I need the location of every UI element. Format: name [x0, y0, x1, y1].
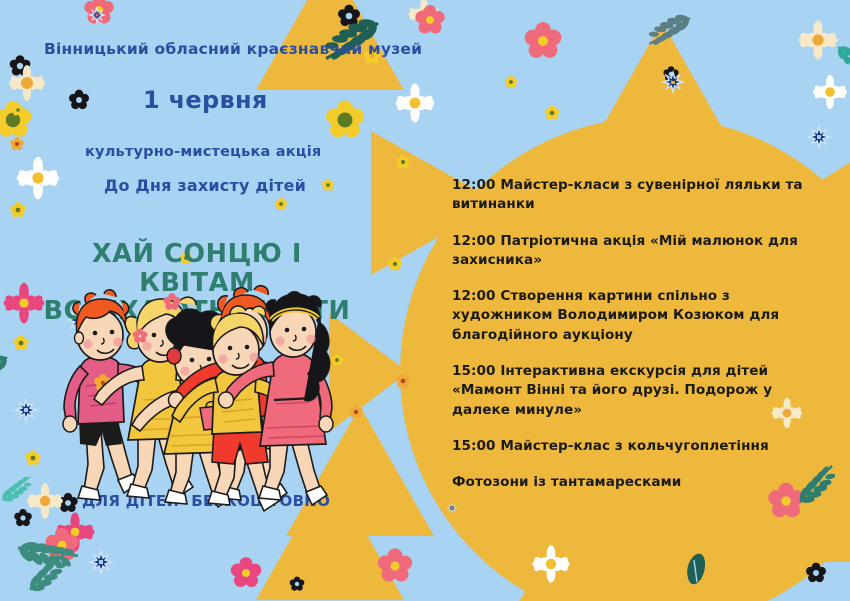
- programme-item: 12:00 Патріотична акція «Мій малюнок для…: [452, 232, 814, 271]
- programme-item: Фотозони із тантамаресками: [452, 473, 814, 492]
- programme-item-time: 12:00: [452, 177, 496, 193]
- headline-line-1: ХАЙ СОНЦЮ І КВІТАМ: [92, 239, 302, 298]
- occasion-label: До Дня захисту дітей: [104, 176, 306, 195]
- programme-item: 12:00 Створення картини спільно з художн…: [452, 287, 814, 345]
- poster-canvas: Вінницький обласний краєзнавчий музей 1 …: [0, 0, 850, 601]
- event-date: 1 червня: [143, 86, 268, 114]
- programme-item: 15:00 Майстер-клас з кольчугоплетіння: [452, 437, 814, 456]
- programme-item: 15:00 Інтерактивна екскурсія для дітей «…: [452, 362, 814, 420]
- child-5-blonde-boy: [172, 306, 308, 511]
- programme-item-time: 12:00: [452, 233, 496, 249]
- programme-item-text: Майстер-класи з сувенірної ляльки та вит…: [452, 177, 803, 212]
- sun-ray-lower-left: [286, 406, 434, 536]
- programme-item-time: 12:00: [452, 288, 496, 304]
- sun-ray-top: [588, 22, 736, 152]
- free-admission-note: ДЛЯ ДІТЕЙ- БЕЗКОШТОВНО: [82, 492, 330, 510]
- programme-item-text: Інтерактивна екскурсія для дітей «Мамонт…: [452, 363, 772, 418]
- sun-ray-bottom-left-corner: [256, 470, 404, 600]
- programme-item-time: 15:00: [452, 438, 496, 454]
- programme-item: 12:00 Майстер-класи з сувенірної ляльки …: [452, 176, 814, 215]
- programme-item-text: Патріотична акція «Мій малюнок для захис…: [452, 233, 798, 268]
- children-arms: [92, 395, 140, 405]
- action-type-label: культурно-мистецька акція: [85, 144, 321, 160]
- programme-item-text: Майстер-клас з кольчугоплетіння: [500, 438, 768, 454]
- page-title: ХАЙ СОНЦЮ І КВІТАМ ВСМІХАЮТЬСЯ ДІТИ: [32, 240, 362, 326]
- child-3-darkhair-girl: [132, 309, 266, 507]
- single-leaf: [687, 554, 705, 585]
- programme-list: 12:00 Майстер-класи з сувенірної ляльки …: [452, 176, 814, 493]
- programme-item-time: 15:00: [452, 363, 496, 379]
- sun-ray-bottom: [496, 517, 644, 601]
- sun-ray-mid-left: [329, 313, 408, 432]
- headline-line-2: ВСМІХАЮТЬСЯ ДІТИ: [32, 297, 362, 326]
- museum-title: Вінницький обласний краєзнавчий музей: [44, 40, 422, 58]
- programme-item-text: Фотозони із тантамаресками: [452, 474, 681, 490]
- programme-item-text: Створення картини спільно з художником В…: [452, 288, 779, 343]
